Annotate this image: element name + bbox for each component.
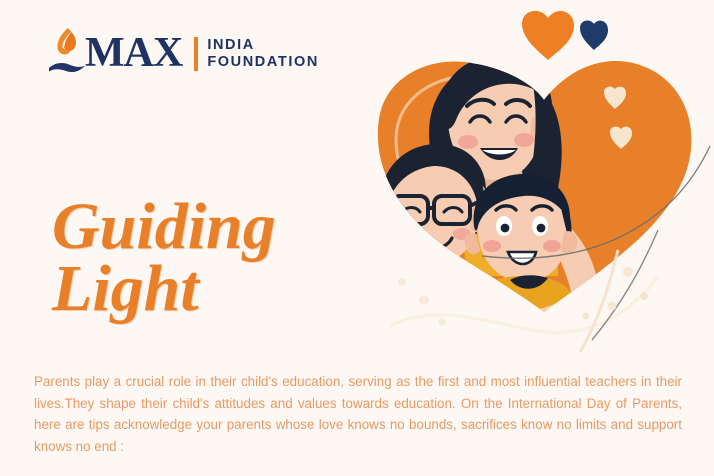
- logo-wordmark: MAX: [85, 32, 182, 74]
- father-shirt: [380, 265, 494, 348]
- logo-subtext-line1: INDIA: [207, 37, 319, 54]
- logo-subtext: INDIA FOUNDATION: [207, 37, 319, 71]
- logo-subtext-line2: FOUNDATION: [207, 54, 319, 71]
- max-india-foundation-logo[interactable]: MAX INDIA FOUNDATION: [47, 26, 319, 78]
- family-hug-illustration: [372, 0, 714, 360]
- body-paragraph-text: Parents play a crucial role in their chi…: [34, 374, 682, 454]
- big-orange-heart: [522, 11, 574, 60]
- page-title: Guiding Light: [52, 196, 276, 320]
- max-flame-logo-icon: [47, 26, 87, 78]
- page-title-line2: Light: [52, 258, 276, 320]
- body-paragraph: Parents play a crucial role in their chi…: [34, 371, 682, 457]
- poster-canvas: MAX INDIA FOUNDATION: [0, 0, 714, 476]
- small-navy-heart: [580, 21, 608, 50]
- logo-divider: [194, 37, 198, 71]
